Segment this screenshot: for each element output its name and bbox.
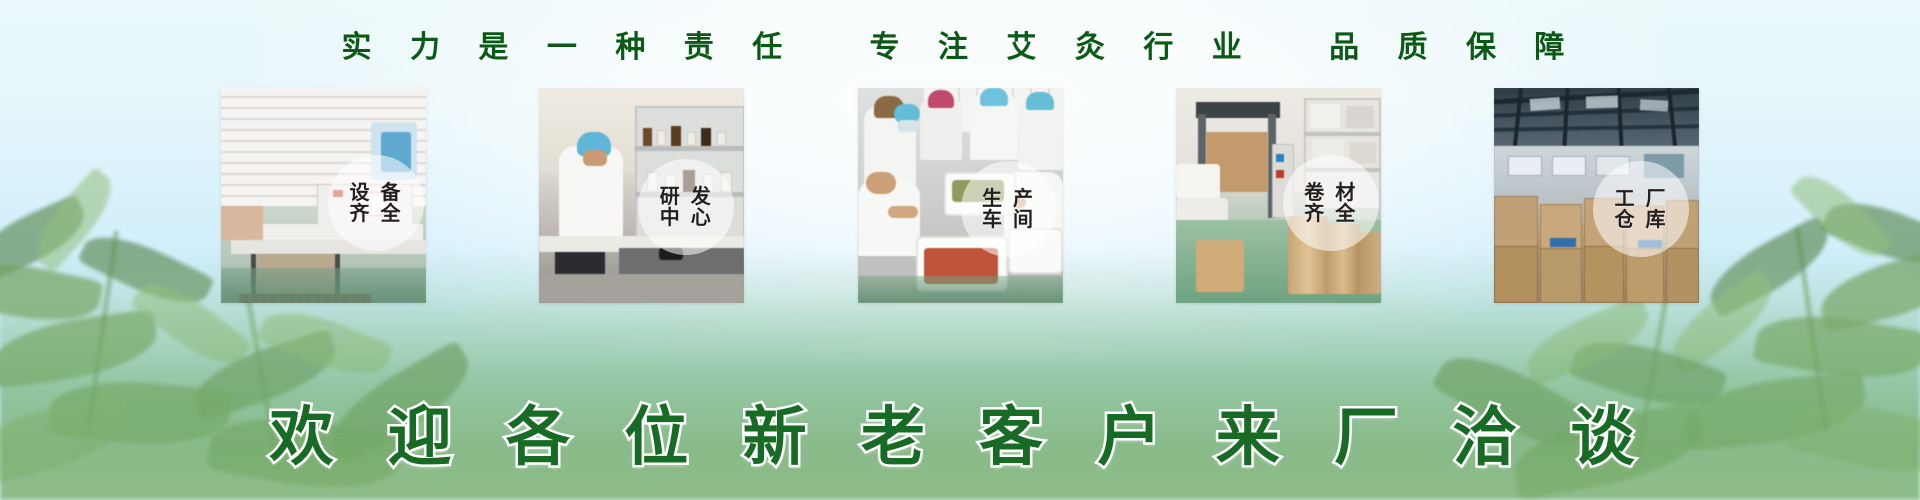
badge-line-1: 设 备 bbox=[350, 182, 403, 203]
badge-line-2: 中 心 bbox=[660, 207, 713, 228]
facility-card-rnd-center[interactable]: 研 发 中 心 bbox=[539, 88, 744, 303]
badge-line-1: 工 厂 bbox=[1615, 188, 1668, 209]
badge-line-1: 生 产 bbox=[982, 188, 1035, 209]
badge-workshop: 生 产 车 间 bbox=[961, 161, 1057, 257]
facility-card-workshop[interactable]: 生 产 车 间 bbox=[858, 88, 1063, 303]
badge-line-2: 齐 全 bbox=[350, 203, 403, 224]
headline-bottom: 欢 迎 各 位 新 老 客 户 来 厂 洽 谈 bbox=[0, 386, 1920, 478]
badge-warehouse: 工 厂 仓 库 bbox=[1593, 161, 1689, 257]
badge-line-2: 车 间 bbox=[982, 209, 1035, 230]
badge-line-1: 卷 材 bbox=[1304, 182, 1357, 203]
badge-rnd-center: 研 发 中 心 bbox=[638, 159, 734, 255]
promotional-banner: 实 力 是 一 种 责 任 专 注 艾 灸 行 业 品 质 保 障 bbox=[0, 0, 1920, 500]
facility-card-roll-stock[interactable]: 卷 材 齐 全 bbox=[1176, 88, 1381, 303]
badge-line-2: 齐 全 bbox=[1304, 203, 1357, 224]
facility-card-equipment[interactable]: 设 备 齐 全 bbox=[221, 88, 426, 303]
facility-card-warehouse[interactable]: 工 厂 仓 库 bbox=[1494, 88, 1699, 303]
facility-card-strip: 设 备 齐 全 bbox=[221, 88, 1699, 303]
badge-line-1: 研 发 bbox=[660, 186, 713, 207]
badge-line-2: 仓 库 bbox=[1615, 209, 1668, 230]
badge-equipment: 设 备 齐 全 bbox=[328, 155, 424, 251]
headline-top: 实 力 是 一 种 责 任 专 注 艾 灸 行 业 品 质 保 障 bbox=[0, 22, 1920, 66]
badge-roll-stock: 卷 材 齐 全 bbox=[1283, 155, 1379, 251]
